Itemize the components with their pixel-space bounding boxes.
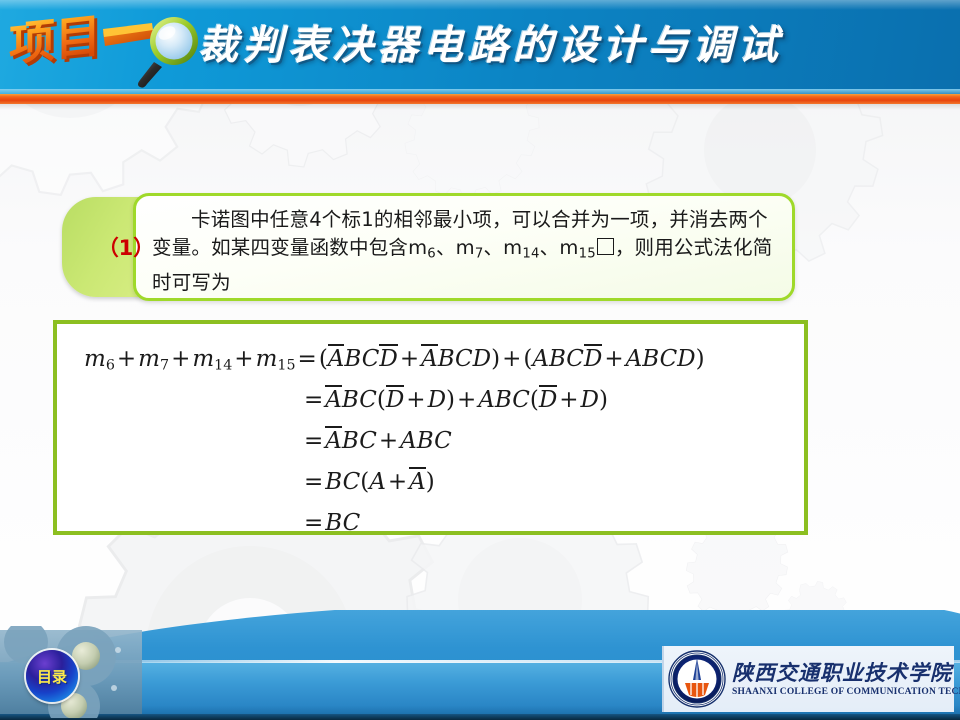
school-name-block: 陕西交通职业技术学院 SHAANXI COLLEGE OF COMMUNICAT… (732, 660, 960, 699)
formula-box: m6+m7+m14+m15=(ABCD+ABCD)+(ABCD+ABCD) =A… (53, 320, 808, 535)
svg-text:项目: 项目 (9, 8, 101, 72)
callout-paragraph: 卡诺图中任意4个标1的相邻最小项，可以合并为一项，并消去两个变量。如某四变量函数… (152, 206, 778, 297)
slide-footer: 目录 陕西交通职业 (0, 610, 960, 720)
school-name-en: SHAANXI COLLEGE OF COMMUNICATION TECHNOL… (732, 686, 960, 699)
callout-line-1: 卡诺图中任意4个标1的相邻最小项，可以合并为一项， (191, 208, 669, 231)
school-name-cn: 陕西交通职业技术学院 (732, 660, 960, 686)
page-title: 裁判表决器电路的设计与调试 (198, 16, 938, 78)
callout-line-2-c: 、m (483, 236, 522, 259)
callout-line-2-d: 、m (540, 236, 579, 259)
callout-line-2-b: 、m (436, 236, 475, 259)
footer-bottom-edge (0, 714, 960, 720)
header-accent-bar (0, 94, 960, 104)
callout-sub-6: 6 (427, 247, 436, 262)
callout-sub-14: 14 (522, 247, 539, 262)
formula-line-1: m6+m7+m14+m15=(ABCD+ABCD)+(ABCD+ABCD) (84, 346, 705, 374)
formula-lines: m6+m7+m14+m15=(ABCD+ABCD)+(ABCD+ABCD) =A… (57, 324, 804, 531)
callout-line-2-e: ， (615, 236, 635, 259)
callout-number-label: （1） (62, 197, 190, 297)
table-of-contents-button[interactable]: 目录 (26, 650, 78, 702)
school-emblem-icon (668, 650, 726, 708)
callout-sub-15: 15 (579, 247, 596, 262)
school-logo: 陕西交通职业技术学院 SHAANXI COLLEGE OF COMMUNICAT… (662, 646, 954, 712)
header-accent-shadow (0, 104, 960, 110)
formula-line-2: =ABC(D+D)+ABC(D+D) (302, 387, 608, 413)
callout-text-box: 卡诺图中任意4个标1的相邻最小项，可以合并为一项，并消去两个变量。如某四变量函数… (133, 193, 795, 301)
formula-line-5: =BC (302, 510, 360, 536)
toc-button-label: 目录 (37, 666, 67, 687)
missing-glyph-box (597, 238, 614, 255)
formula-line-3: =ABC+ABC (302, 428, 452, 454)
formula-line-4: =BC(A+A) (302, 469, 435, 495)
slide-canvas: 项目 项目 (0, 0, 960, 720)
